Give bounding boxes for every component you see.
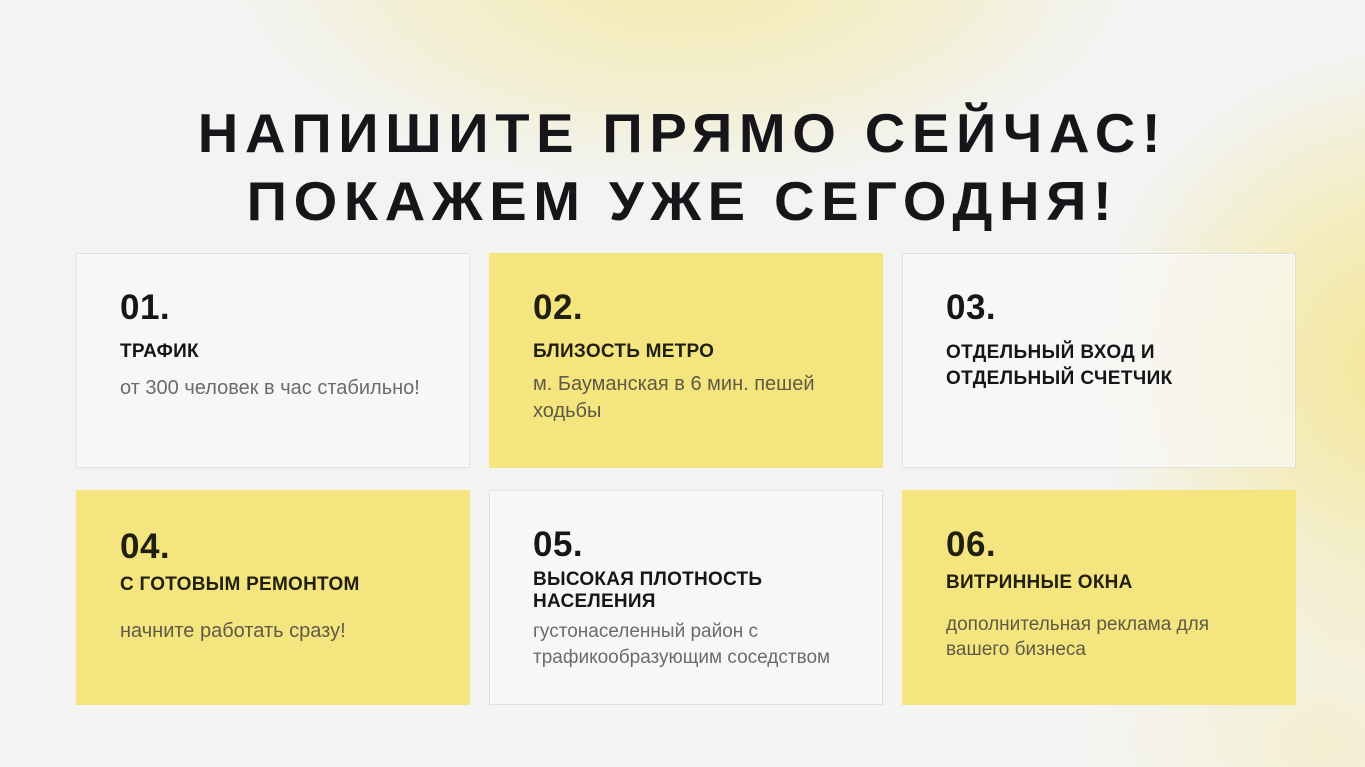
card-number: 05.: [533, 527, 850, 563]
benefit-card-04: 04. С ГОТОВЫМ РЕМОНТОМ начните работать …: [76, 490, 470, 705]
card-subtitle: ТРАФИК: [120, 340, 437, 363]
benefit-card-01: 01. ТРАФИК от 300 человек в час стабильн…: [76, 253, 470, 468]
card-subtitle: ВЫСОКАЯ ПЛОТНОСТЬ НАСЕЛЕНИЯ: [533, 569, 850, 613]
benefit-card-06: 06. ВИТРИННЫЕ ОКНА дополнительная реклам…: [902, 490, 1296, 705]
benefits-grid: 01. ТРАФИК от 300 человек в час стабильн…: [76, 253, 1291, 705]
slide-canvas: НАПИШИТЕ ПРЯМО СЕЙЧАС! ПОКАЖЕМ УЖЕ СЕГОД…: [0, 0, 1365, 767]
card-subtitle: ОТДЕЛЬНЫЙ ВХОД И ОТДЕЛЬНЫЙ СЧЕТЧИК: [946, 340, 1263, 392]
benefit-card-02: 02. БЛИЗОСТЬ МЕТРО м. Бауманская в 6 мин…: [489, 253, 883, 468]
card-body: м. Бауманская в 6 мин. пешей ходьбы: [533, 371, 850, 425]
headline-line-1: НАПИШИТЕ ПРЯМО СЕЙЧАС!: [0, 99, 1365, 167]
page-title: НАПИШИТЕ ПРЯМО СЕЙЧАС! ПОКАЖЕМ УЖЕ СЕГОД…: [0, 99, 1365, 235]
card-subtitle: С ГОТОВЫМ РЕМОНТОМ: [120, 573, 437, 596]
card-body: густонаселенный район с трафикообразующи…: [533, 619, 850, 671]
card-body: начните работать сразу!: [120, 618, 437, 645]
card-number: 03.: [946, 290, 1263, 326]
headline-line-2: ПОКАЖЕМ УЖЕ СЕГОДНЯ!: [0, 167, 1365, 235]
benefit-card-03: 03. ОТДЕЛЬНЫЙ ВХОД И ОТДЕЛЬНЫЙ СЧЕТЧИК: [902, 253, 1296, 468]
card-body: дополнительная реклама для вашего бизнес…: [946, 612, 1263, 662]
card-subtitle: ВИТРИННЫЕ ОКНА: [946, 571, 1263, 594]
card-number: 04.: [120, 529, 437, 565]
card-number: 02.: [533, 290, 850, 326]
card-body: от 300 человек в час стабильно!: [120, 375, 437, 402]
benefit-card-05: 05. ВЫСОКАЯ ПЛОТНОСТЬ НАСЕЛЕНИЯ густонас…: [489, 490, 883, 705]
card-number: 06.: [946, 527, 1263, 563]
card-number: 01.: [120, 290, 437, 326]
card-subtitle: БЛИЗОСТЬ МЕТРО: [533, 340, 850, 363]
